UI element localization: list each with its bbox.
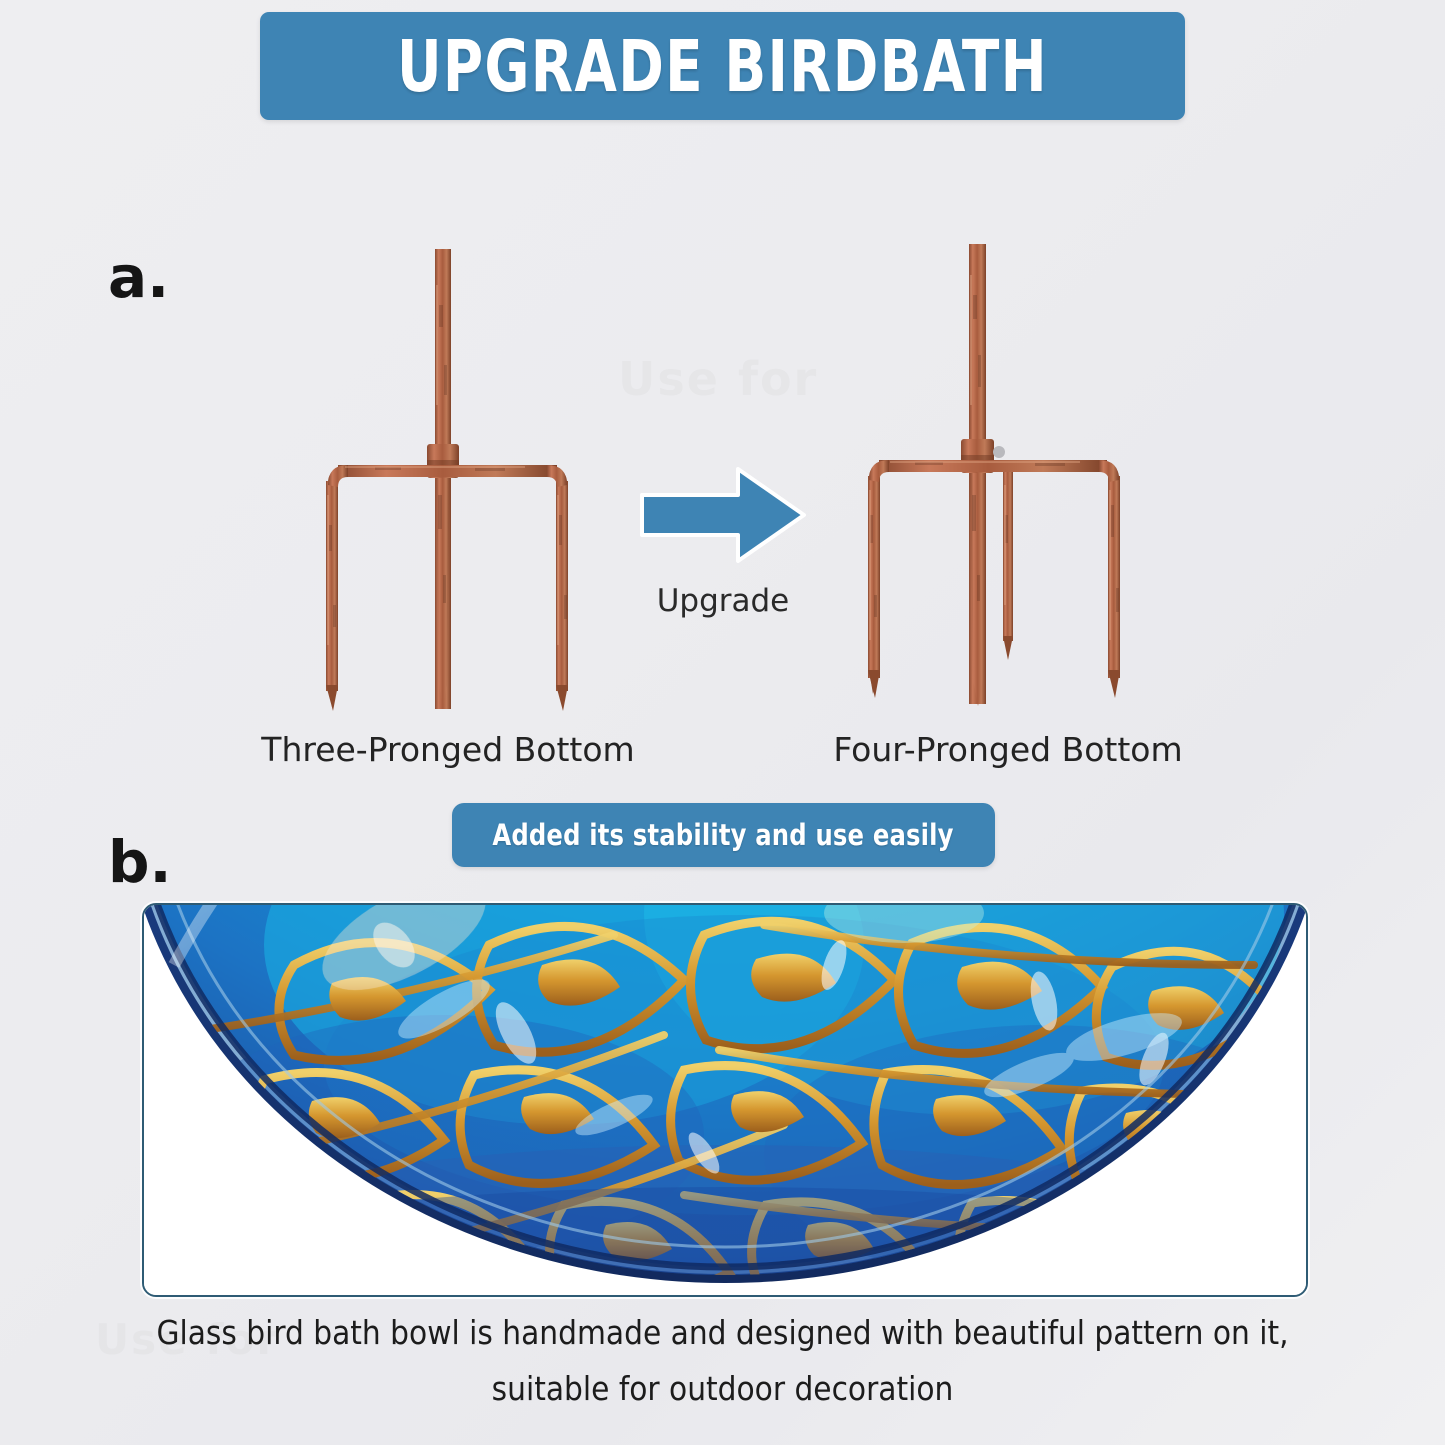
description-line-2: suitable for outdoor decoration	[0, 1369, 1445, 1408]
section-label-b: b.	[108, 833, 172, 891]
glass-bird-bath-bowl-image	[144, 905, 1306, 1295]
description-line-1: Glass bird bath bowl is handmade and des…	[0, 1313, 1445, 1352]
section-label-a: a.	[108, 248, 169, 306]
title-banner: UPGRADE BIRDBATH	[260, 12, 1185, 120]
infographic-canvas: Use for Use for UPGRADE BIRDBATH a.	[0, 0, 1445, 1445]
three-pronged-caption: Three-Pronged Bottom	[223, 730, 673, 769]
right-arrow-icon	[638, 465, 808, 565]
three-pronged-stake-icon	[305, 245, 590, 715]
bowl-photo-frame	[142, 903, 1308, 1297]
four-pronged-caption: Four-Pronged Bottom	[783, 730, 1233, 769]
four-pronged-stake-icon	[855, 240, 1140, 710]
upgrade-label: Upgrade	[598, 583, 848, 619]
watermark-center: Use for	[618, 352, 818, 406]
stability-banner-text: Added its stability and use easily	[493, 818, 954, 852]
stability-banner: Added its stability and use easily	[452, 803, 995, 867]
page-title: UPGRADE BIRDBATH	[397, 25, 1048, 108]
